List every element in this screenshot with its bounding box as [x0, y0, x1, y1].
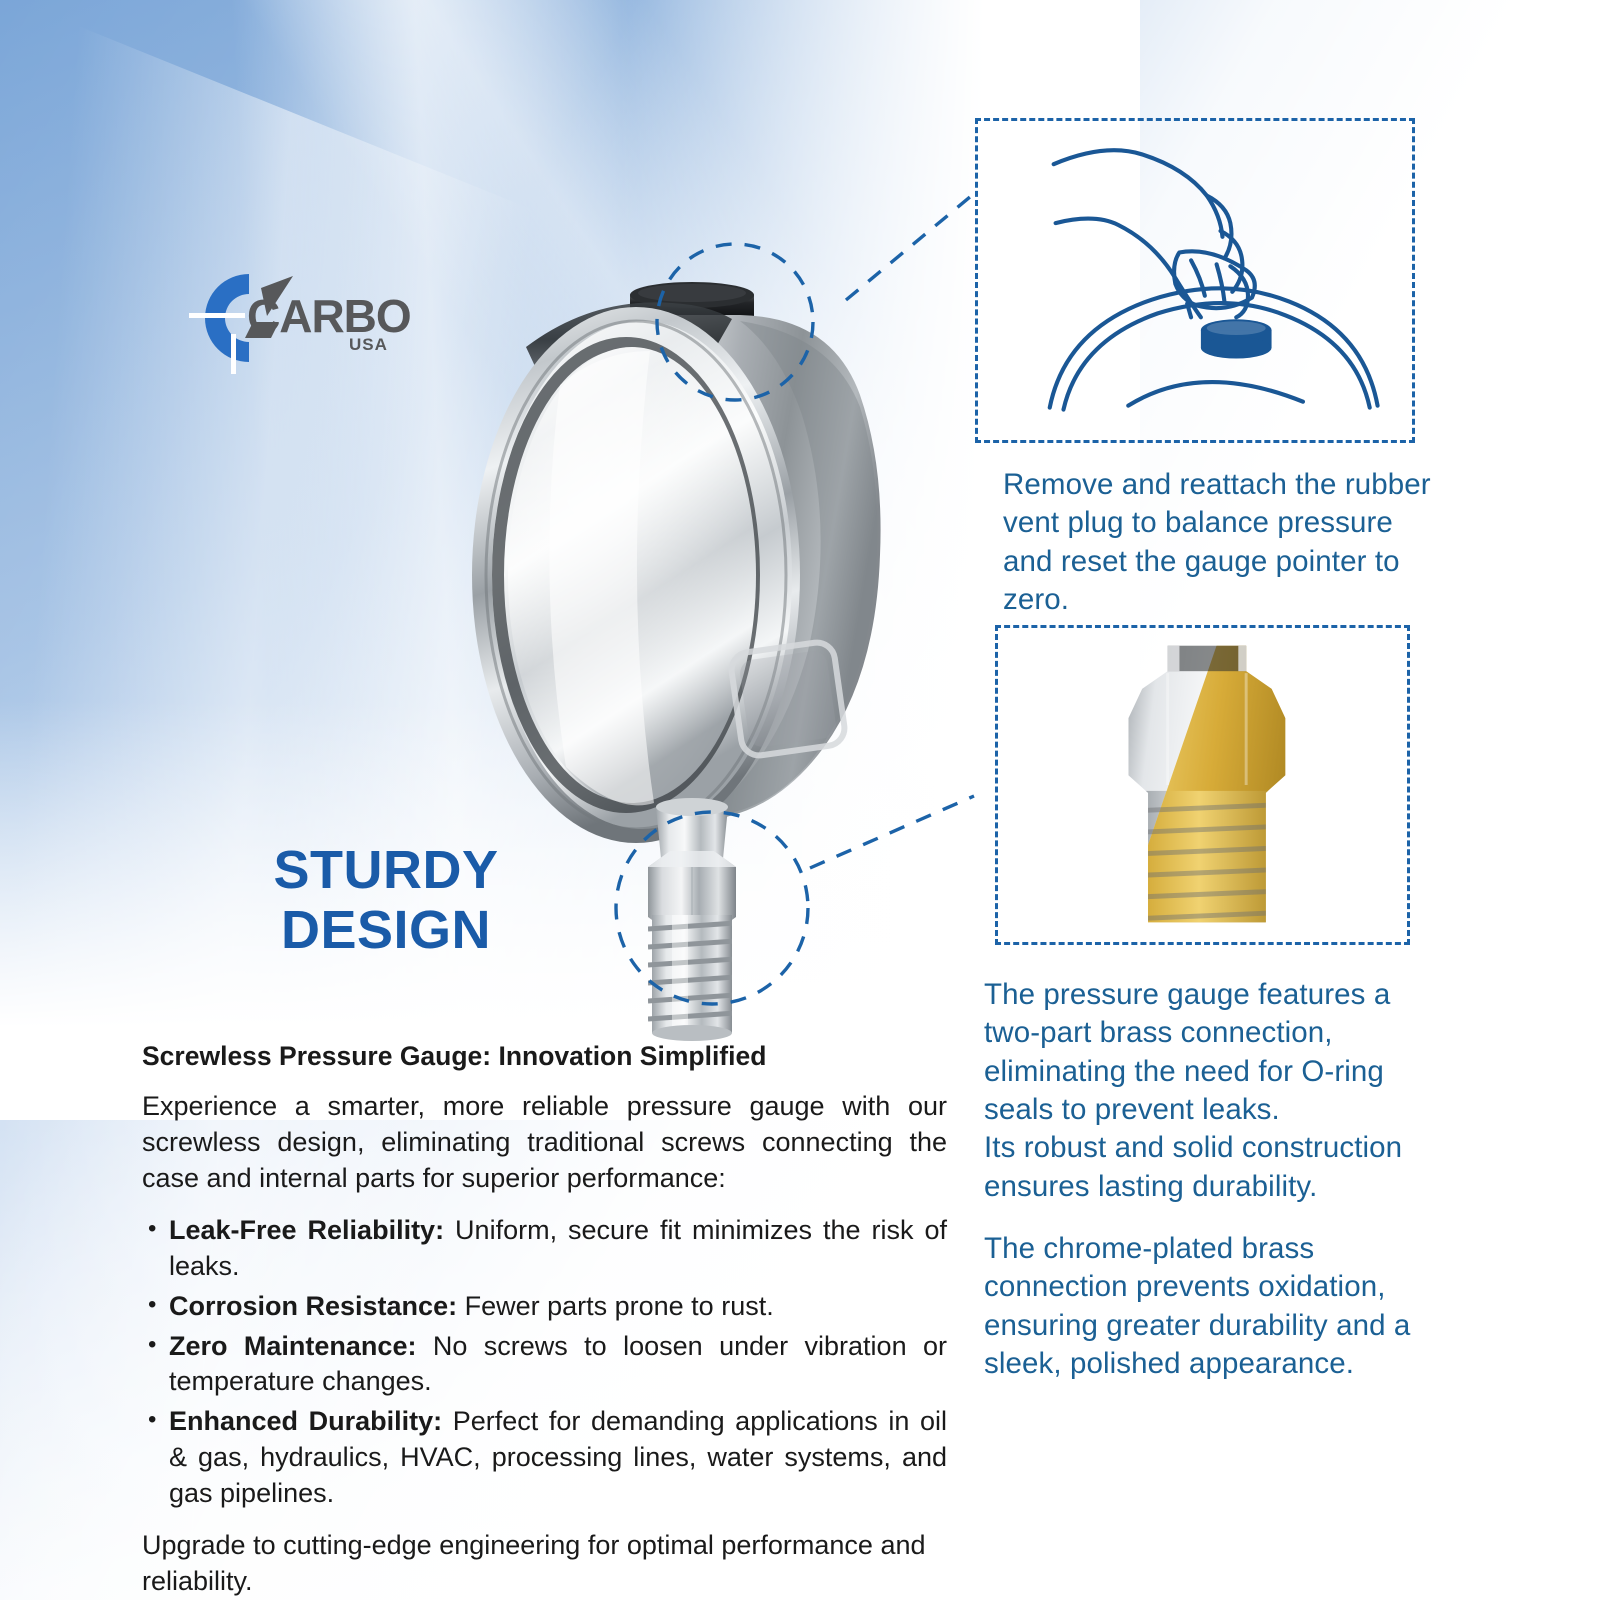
callout-text-brass-connection: The pressure gauge features a two-part b… — [984, 976, 1434, 1383]
brass-paragraph-1: The pressure gauge features a two-part b… — [984, 976, 1434, 1206]
headline-line-1: STURDY — [273, 840, 498, 900]
feature-term: Enhanced Durability: — [169, 1406, 442, 1436]
gauge-stem — [648, 798, 736, 1041]
list-item: Enhanced Durability: Perfect for demandi… — [142, 1404, 947, 1512]
page-title: STURDY DESIGN — [176, 840, 596, 961]
feature-term: Corrosion Resistance: — [169, 1291, 457, 1321]
list-item: Corrosion Resistance: Fewer parts prone … — [142, 1289, 947, 1325]
feature-desc: Fewer parts prone to rust. — [457, 1291, 774, 1321]
carbo-c-mark-icon — [189, 274, 249, 374]
feature-list: Leak-Free Reliability: Uniform, secure f… — [142, 1213, 947, 1512]
list-item: Zero Maintenance: No screws to loosen un… — [142, 1329, 947, 1401]
callout-box-brass-connection — [995, 625, 1410, 945]
list-item: Leak-Free Reliability: Uniform, secure f… — [142, 1213, 947, 1285]
detached-plug-icon — [1201, 319, 1272, 358]
feature-term: Zero Maintenance: — [169, 1331, 416, 1361]
hand-removing-vent-plug-icon — [978, 121, 1412, 440]
infographic-page: CARBO USA — [0, 0, 1600, 1600]
callout-text-vent-plug: Remove and reattach the rubber vent plug… — [1003, 466, 1433, 619]
body-intro: Experience a smarter, more reliable pres… — [142, 1089, 947, 1197]
callout-box-vent-plug — [975, 118, 1415, 443]
feature-term: Leak-Free Reliability: — [169, 1215, 444, 1245]
body-outro: Upgrade to cutting-edge engineering for … — [142, 1528, 947, 1600]
carbo-usa-logo: CARBO USA — [175, 262, 415, 374]
body-copy: Screwless Pressure Gauge: Innovation Sim… — [142, 1040, 947, 1600]
two-part-brass-chrome-fitting-icon — [998, 628, 1407, 942]
body-heading: Screwless Pressure Gauge: Innovation Sim… — [142, 1040, 947, 1073]
brass-paragraph-2: The chrome-plated brass connection preve… — [984, 1230, 1434, 1383]
logo-sub: USA — [349, 335, 388, 354]
headline-line-2: DESIGN — [176, 900, 596, 960]
